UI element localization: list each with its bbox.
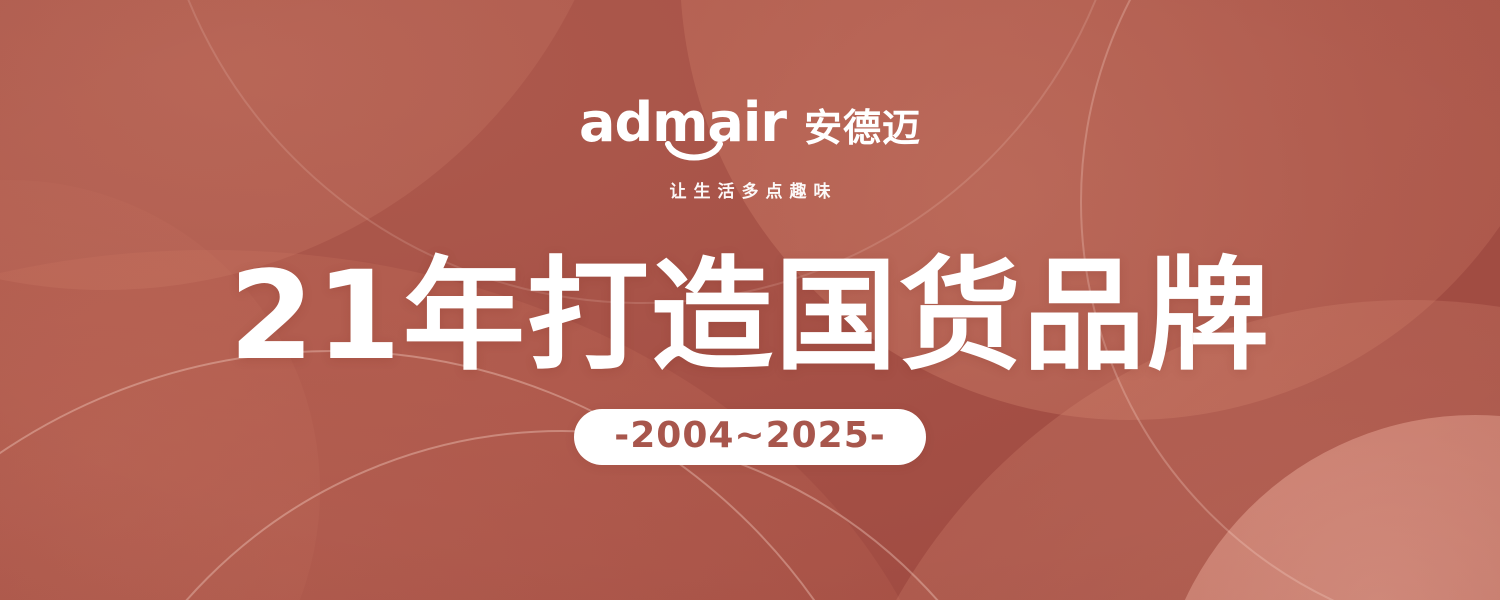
banner-content: admair 安德迈 让生活多点趣味 21年打造国货品牌 -2004~2025- [0, 0, 1500, 600]
brand-logo: admair 安德迈 让生活多点趣味 [579, 96, 921, 201]
promo-banner: admair 安德迈 让生活多点趣味 21年打造国货品牌 -2004~2025- [0, 0, 1500, 600]
logo-lockup: admair 安德迈 [579, 96, 921, 150]
year-range-badge: -2004~2025- [574, 409, 925, 465]
brand-name-cn: 安德迈 [804, 109, 921, 147]
headline: 21年打造国货品牌 [229, 255, 1271, 377]
brand-tagline: 让生活多点趣味 [663, 184, 838, 201]
smile-curve-icon [665, 141, 723, 167]
brand-wordmark: admair [579, 96, 786, 150]
